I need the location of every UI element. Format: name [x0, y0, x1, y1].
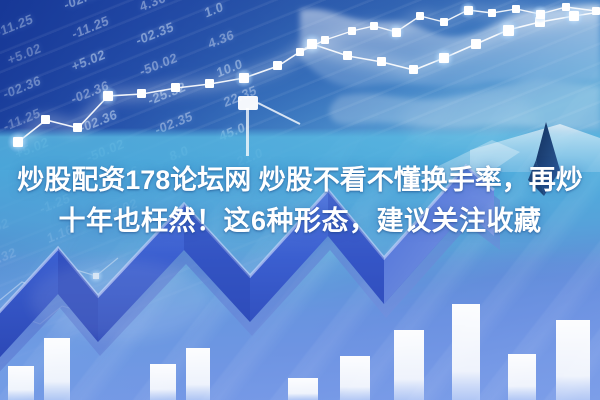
- bar: [186, 348, 210, 400]
- marker-pole-icon: [238, 96, 300, 156]
- bar: [394, 330, 424, 400]
- bar: [150, 364, 176, 400]
- bar: [8, 366, 34, 400]
- headline-line-1: 炒股配资178论坛网 炒股不看不懂换手率，再炒: [14, 160, 586, 201]
- headline-line-2: 十年也枉然！这6种形态，建议关注收藏: [14, 201, 586, 242]
- bar: [452, 304, 480, 400]
- bar: [556, 320, 590, 400]
- bar: [288, 378, 318, 400]
- bar: [340, 356, 370, 400]
- stock-article-banner: -02.36+5.02-11.25-02.3521.045.02 -50.02-…: [0, 0, 600, 400]
- bar: [44, 338, 70, 400]
- headline: 炒股配资178论坛网 炒股不看不懂换手率，再炒 十年也枉然！这6种形态，建议关注…: [0, 160, 600, 242]
- bar: [508, 354, 536, 400]
